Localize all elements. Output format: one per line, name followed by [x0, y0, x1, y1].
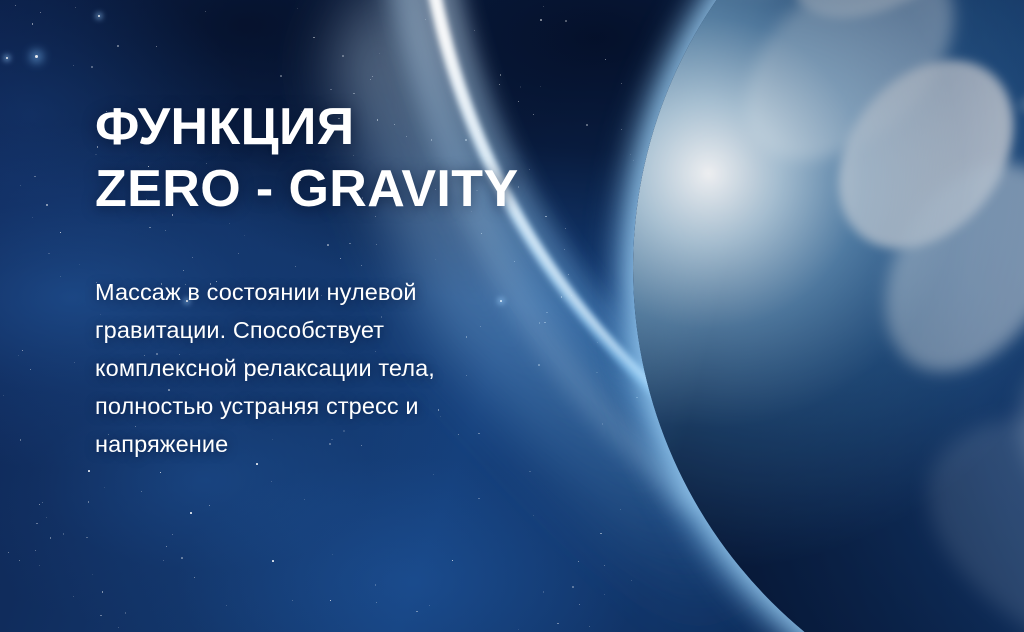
description-text: Массаж в состоянии нулевой гравитации. С…	[95, 220, 515, 463]
zero-gravity-banner: ФУНКЦИЯ ZERO - GRAVITY Массаж в состояни…	[0, 0, 1024, 632]
page-title: ФУНКЦИЯ ZERO - GRAVITY	[95, 96, 565, 220]
copy-block: ФУНКЦИЯ ZERO - GRAVITY Массаж в состояни…	[95, 96, 565, 463]
